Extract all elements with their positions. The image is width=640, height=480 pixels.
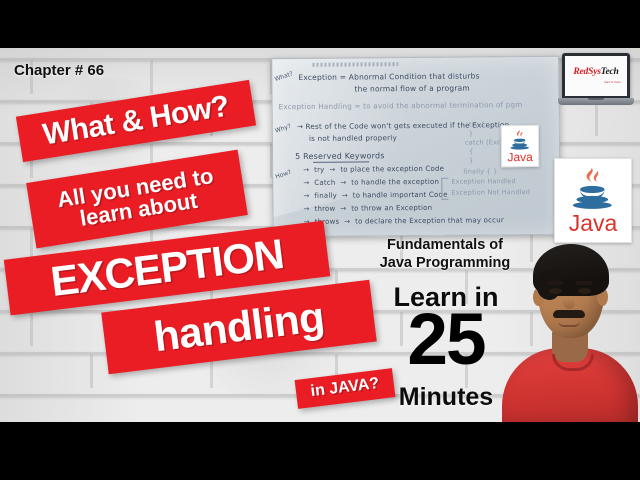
keyword-desc: to throw an Exception <box>351 204 432 213</box>
letterbox-bar-bottom <box>0 422 640 480</box>
keyword-name: try <box>314 166 324 174</box>
whiteboard-keyword-row: → throws → to declare the Exception that… <box>304 216 504 226</box>
whiteboard: What? Why? How? Exception = Abnormal Con… <box>271 56 561 238</box>
whiteboard-brace <box>441 178 448 200</box>
laptop-screen: RedSysTech Sure is Sure.. <box>565 56 627 96</box>
whiteboard-tag-what: What? <box>274 70 294 83</box>
presenter-eye-left <box>549 288 562 294</box>
brand-name-red: RedSys <box>573 67 600 77</box>
keyword-arrow: → <box>303 166 312 174</box>
brand-name-dark: Tech <box>601 67 619 77</box>
whiteboard-note-handled: Exception Handled <box>451 177 516 186</box>
presenter-mouth <box>558 321 580 327</box>
whiteboard-line-2: the normal flow of a program <box>354 84 469 94</box>
keyword-name: finally <box>314 192 337 200</box>
brand-logo: RedSysTech <box>573 68 618 78</box>
chapter-label: Chapter # 66 <box>14 62 104 79</box>
whiteboard-code-line: } <box>469 156 473 164</box>
whiteboard-keyword-row: → Catch → to handle the exception <box>303 178 439 187</box>
keyword-arrow-2: → <box>339 192 350 200</box>
presenter-nose <box>563 294 575 309</box>
keyword-arrow: → <box>304 205 313 213</box>
java-cup-icon <box>509 128 531 151</box>
thumbnail-canvas: What? Why? How? Exception = Abnormal Con… <box>0 0 640 480</box>
java-cup-icon <box>570 164 616 212</box>
subtitle-line-1: Fundamentals of <box>387 237 503 253</box>
whiteboard-keyword-row: → finally → to handle important Code <box>303 191 447 200</box>
letterbox-bar-top <box>0 0 640 48</box>
keyword-arrow-2: → <box>338 205 349 213</box>
whiteboard-code-line: try { <box>469 120 485 128</box>
whiteboard-code-line: { <box>469 147 473 155</box>
duration-number: 25 <box>378 303 514 376</box>
laptop-notch <box>588 98 604 100</box>
whiteboard-keywords-heading: 5 Reserved Keywords <box>295 151 385 161</box>
presenter-hair <box>533 244 609 296</box>
keyword-arrow: → <box>303 179 312 187</box>
presenter-eye-right <box>578 288 591 294</box>
whiteboard-line-3: Exception Handling = to avoid the abnorm… <box>279 100 523 111</box>
keyword-desc: to handle important Code <box>353 191 448 200</box>
whiteboard-squiggle <box>312 62 398 67</box>
java-logo-small: Java <box>501 125 539 167</box>
keyword-name: throw <box>314 205 335 213</box>
whiteboard-tag-why: Why? <box>274 123 292 135</box>
presenter-eyebrow-right <box>576 281 592 285</box>
whiteboard-keyword-row: → try → to place the exception Code <box>303 165 444 174</box>
keyword-arrow-2: → <box>342 218 353 226</box>
java-wordmark: Java <box>569 212 618 235</box>
presenter-eyebrow-left <box>547 281 563 285</box>
subtitle-block: Fundamentals of Java Programming <box>366 236 524 272</box>
whiteboard-note-not-handled: Exception Not Handled <box>451 188 530 197</box>
keyword-desc: to handle the exception <box>351 178 439 187</box>
laptop: RedSysTech Sure is Sure.. <box>558 53 634 111</box>
keyword-name: Catch <box>314 179 335 187</box>
java-logo-large: Java <box>554 158 632 243</box>
whiteboard-line-1: Exception = Abnormal Condition that dist… <box>298 71 479 82</box>
whiteboard-line-5: is not handled properly <box>309 133 397 143</box>
laptop-lid: RedSysTech Sure is Sure.. <box>562 53 630 99</box>
keyword-arrow: → <box>303 192 312 200</box>
whiteboard-keyword-row: → throw → to throw an Exception <box>304 204 433 213</box>
whiteboard-heading-underline <box>313 161 369 162</box>
brand-tagline: Sure is Sure.. <box>604 80 622 84</box>
java-wordmark: Java <box>507 151 532 163</box>
whiteboard-tag-how: How? <box>275 169 293 181</box>
keyword-arrow-2: → <box>327 166 338 174</box>
keyword-desc: to place the exception Code <box>340 165 444 174</box>
subtitle-line-2: Java Programming <box>366 254 524 272</box>
keyword-desc: to declare the Exception that may occur <box>355 216 504 225</box>
keyword-arrow-2: → <box>338 179 349 187</box>
duration-unit: Minutes <box>378 383 514 412</box>
whiteboard-code-line: } <box>469 130 473 138</box>
whiteboard-code-line: finally { } <box>463 167 497 175</box>
presenter-mustache <box>553 310 585 318</box>
